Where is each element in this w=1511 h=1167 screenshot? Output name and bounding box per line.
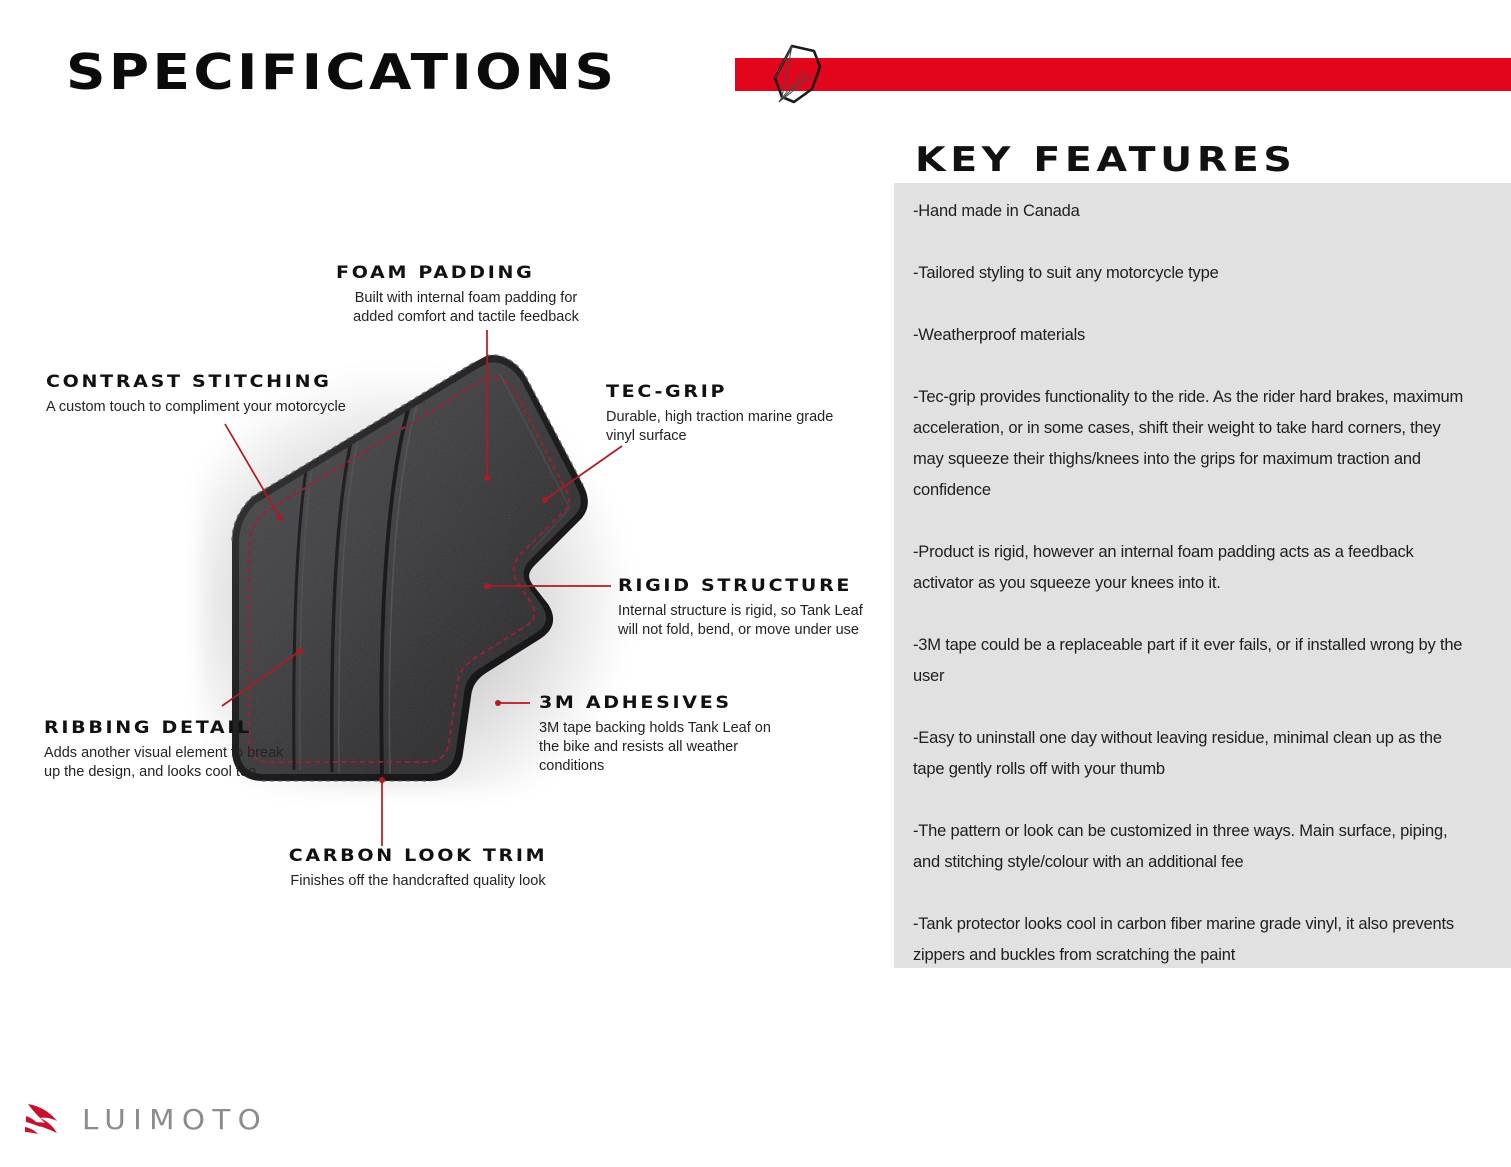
callout-description: 3M tape backing holds Tank Leaf on the b… <box>539 719 789 776</box>
callout-contrast-stitching: CONTRAST STITCHING A custom touch to com… <box>46 372 346 417</box>
key-feature-item: -3M tape could be a replaceable part if … <box>913 630 1473 692</box>
callout-description: Internal structure is rigid, so Tank Lea… <box>618 602 870 640</box>
callout-description: Finishes off the handcrafted quality loo… <box>272 872 564 891</box>
callout-description: Adds another visual element to break up … <box>44 744 284 782</box>
key-features-heading: KEY FEATURES <box>915 140 1296 180</box>
callout-3m-adhesives: 3M ADHESIVES 3M tape backing holds Tank … <box>539 693 789 776</box>
key-feature-item: -Tank protector looks cool in carbon fib… <box>913 909 1473 971</box>
callout-title: TEC-GRIP <box>606 382 888 402</box>
callout-rigid-structure: RIGID STRUCTURE Internal structure is ri… <box>618 576 870 640</box>
key-feature-item: -The pattern or look can be customized i… <box>913 816 1473 878</box>
brand-wordmark: LUIMOTO <box>82 1103 268 1136</box>
callout-title: CONTRAST STITCHING <box>46 372 382 392</box>
callout-title: FOAM PADDING <box>336 263 627 283</box>
callout-title: 3M ADHESIVES <box>539 693 819 713</box>
callout-title: RIGID STRUCTURE <box>618 576 900 596</box>
callout-title: CARBON LOOK TRIM <box>254 846 581 866</box>
key-feature-item: -Hand made in Canada <box>913 196 1473 227</box>
callout-ribbing-detail: RIBBING DETAIL Adds another visual eleme… <box>44 718 284 782</box>
header-accent-bar <box>735 58 1511 91</box>
callout-description: Durable, high traction marine grade viny… <box>606 408 858 446</box>
key-features-list: -Hand made in Canada -Tailored styling t… <box>913 196 1473 1002</box>
luimoto-bird-icon <box>24 1098 68 1140</box>
page-title: SPECIFICATIONS <box>66 44 617 101</box>
tank-leaf-outline-icon <box>762 40 834 112</box>
callout-carbon-look-trim: CARBON LOOK TRIM Finishes off the handcr… <box>272 846 564 891</box>
callout-description: A custom touch to compliment your motorc… <box>46 398 346 417</box>
callout-tec-grip: TEC-GRIP Durable, high traction marine g… <box>606 382 858 446</box>
callout-description: Built with internal foam padding for add… <box>336 289 596 327</box>
callout-foam-padding: FOAM PADDING Built with internal foam pa… <box>336 263 596 327</box>
specification-sheet: SPECIFICATIONS KEY FEATURES -Hand made i… <box>0 0 1511 1167</box>
callout-title: RIBBING DETAIL <box>44 718 313 738</box>
key-feature-item: -Tailored styling to suit any motorcycle… <box>913 258 1473 289</box>
key-feature-item: -Easy to uninstall one day without leavi… <box>913 723 1473 785</box>
brand-logo: LUIMOTO <box>24 1098 259 1140</box>
key-feature-item: -Product is rigid, however an internal f… <box>913 537 1473 599</box>
key-feature-item: -Tec-grip provides functionality to the … <box>913 382 1473 506</box>
key-feature-item: -Weatherproof materials <box>913 320 1473 351</box>
